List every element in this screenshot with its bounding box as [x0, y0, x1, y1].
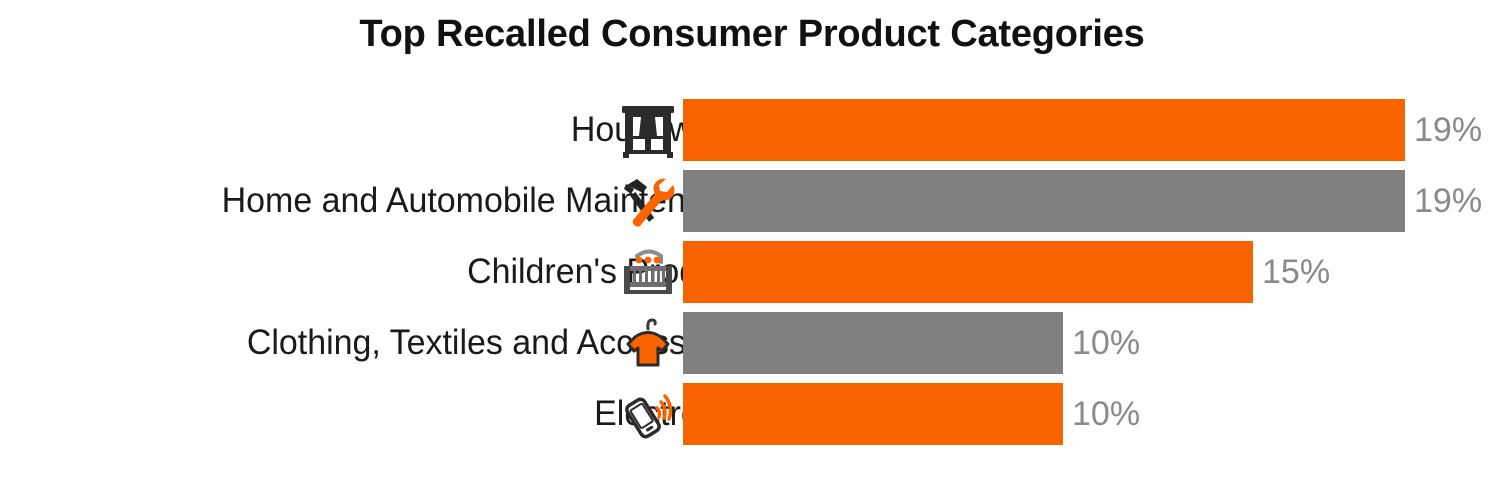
bar-row: Electronics 10%	[0, 383, 1504, 445]
wireless-phone-icon	[617, 384, 679, 444]
value-label-electronics: 10%	[1063, 383, 1140, 445]
category-label-home-and-automobile-maintenance: Home and Automobile Maintenance	[222, 170, 760, 232]
bar-row: Home and Automobile Maintenance 19%	[0, 170, 1504, 232]
value-label-home-and-automobile-maintenance: 19%	[1405, 170, 1482, 232]
bar-row: Children's Products	[0, 241, 1504, 303]
bar-housewares	[683, 99, 1405, 161]
crib-icon	[617, 242, 679, 302]
bar-home-and-automobile-maintenance	[683, 170, 1405, 232]
tshirt-hanger-icon	[617, 313, 679, 373]
bar-clothing-textiles-and-accessories	[683, 312, 1063, 374]
value-label-housewares: 19%	[1405, 99, 1482, 161]
value-label-clothing-textiles-and-accessories: 10%	[1063, 312, 1140, 374]
cabinet-icon	[617, 100, 679, 160]
chart-title: Top Recalled Consumer Product Categories	[0, 13, 1504, 56]
bar-childrens-products	[683, 241, 1253, 303]
plot-area: Housewares 19% Home and Automobile Maint…	[0, 99, 1504, 459]
bar-chart: Top Recalled Consumer Product Categories…	[0, 0, 1504, 481]
hammer-wrench-icon	[617, 171, 679, 231]
bar-row: Housewares 19%	[0, 99, 1504, 161]
bar-electronics	[683, 383, 1063, 445]
value-label-childrens-products: 15%	[1253, 241, 1330, 303]
bar-row: Clothing, Textiles and Accessories 10%	[0, 312, 1504, 374]
